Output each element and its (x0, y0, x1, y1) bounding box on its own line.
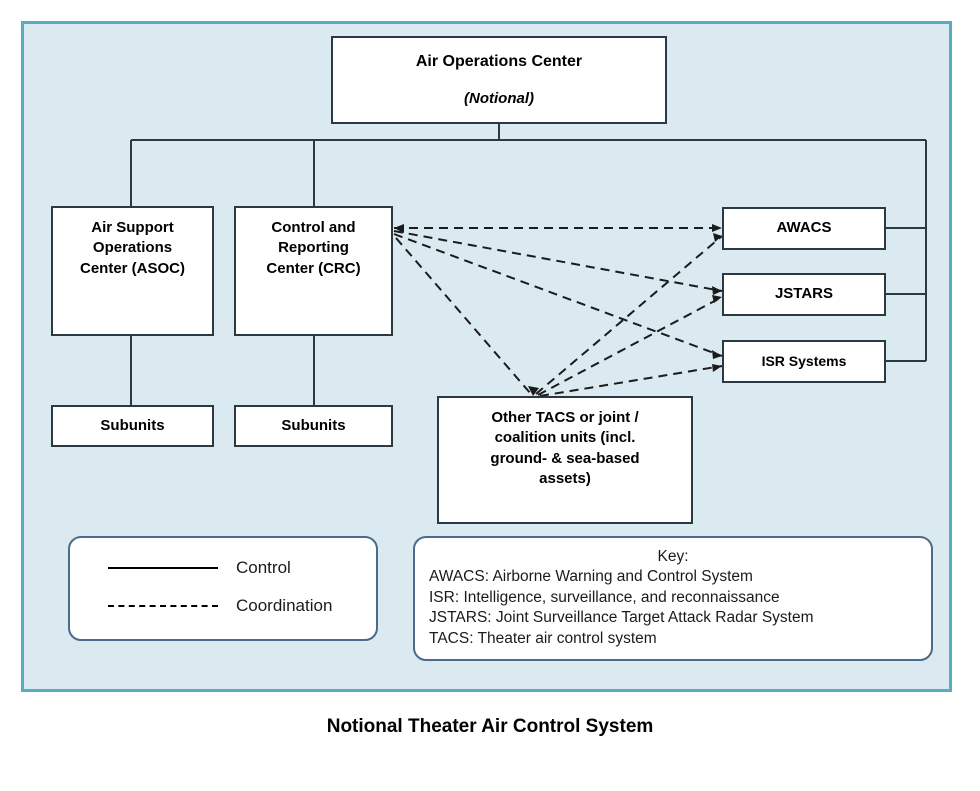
key-line-isr: ISR: Intelligence, surveillance, and rec… (429, 588, 917, 608)
legend-item-control: Control (108, 558, 291, 578)
node-aoc-title: Air Operations Center (333, 51, 665, 73)
key-line-jstars: JSTARS: Joint Surveillance Target Attack… (429, 608, 917, 628)
node-jstars-label: JSTARS (724, 284, 884, 304)
node-crc-label: Control and Reporting Center (CRC) (236, 218, 391, 279)
node-air-operations-center[interactable]: Air Operations Center (Notional) (331, 36, 667, 124)
node-asoc[interactable]: Air Support Operations Center (ASOC) (51, 206, 214, 336)
key-panel: Key: AWACS: Airborne Warning and Control… (413, 536, 933, 661)
node-other-tacs[interactable]: Other TACS or joint / coalition units (i… (437, 396, 693, 524)
figure-caption: Notional Theater Air Control System (0, 716, 980, 738)
node-crc[interactable]: Control and Reporting Center (CRC) (234, 206, 393, 336)
node-jstars[interactable]: JSTARS (722, 273, 886, 316)
key-line-awacs: AWACS: Airborne Warning and Control Syst… (429, 567, 917, 587)
legend-panel: Control Coordination (68, 536, 378, 641)
legend-item-coordination: Coordination (108, 596, 332, 616)
dashed-line-icon (108, 605, 218, 607)
node-subunits-crc-label: Subunits (236, 416, 391, 436)
node-awacs-label: AWACS (724, 218, 884, 238)
figure-root: Air Operations Center (Notional) Air Sup… (0, 0, 980, 791)
key-line-tacs: TACS: Theater air control system (429, 629, 917, 649)
node-isr-systems[interactable]: ISR Systems (722, 340, 886, 383)
node-other-tacs-label: Other TACS or joint / coalition units (i… (439, 408, 691, 489)
node-asoc-label: Air Support Operations Center (ASOC) (53, 218, 212, 279)
node-subunits-crc[interactable]: Subunits (234, 405, 393, 447)
key-title: Key: (429, 547, 917, 567)
key-body: Key: AWACS: Airborne Warning and Control… (415, 538, 931, 649)
node-subunits-asoc-label: Subunits (53, 416, 212, 436)
node-isr-systems-label: ISR Systems (724, 352, 884, 371)
legend-label-control: Control (236, 558, 291, 578)
node-aoc-subtitle: (Notional) (333, 89, 665, 109)
node-subunits-asoc[interactable]: Subunits (51, 405, 214, 447)
node-awacs[interactable]: AWACS (722, 207, 886, 250)
legend-label-coordination: Coordination (236, 596, 332, 616)
solid-line-icon (108, 567, 218, 569)
